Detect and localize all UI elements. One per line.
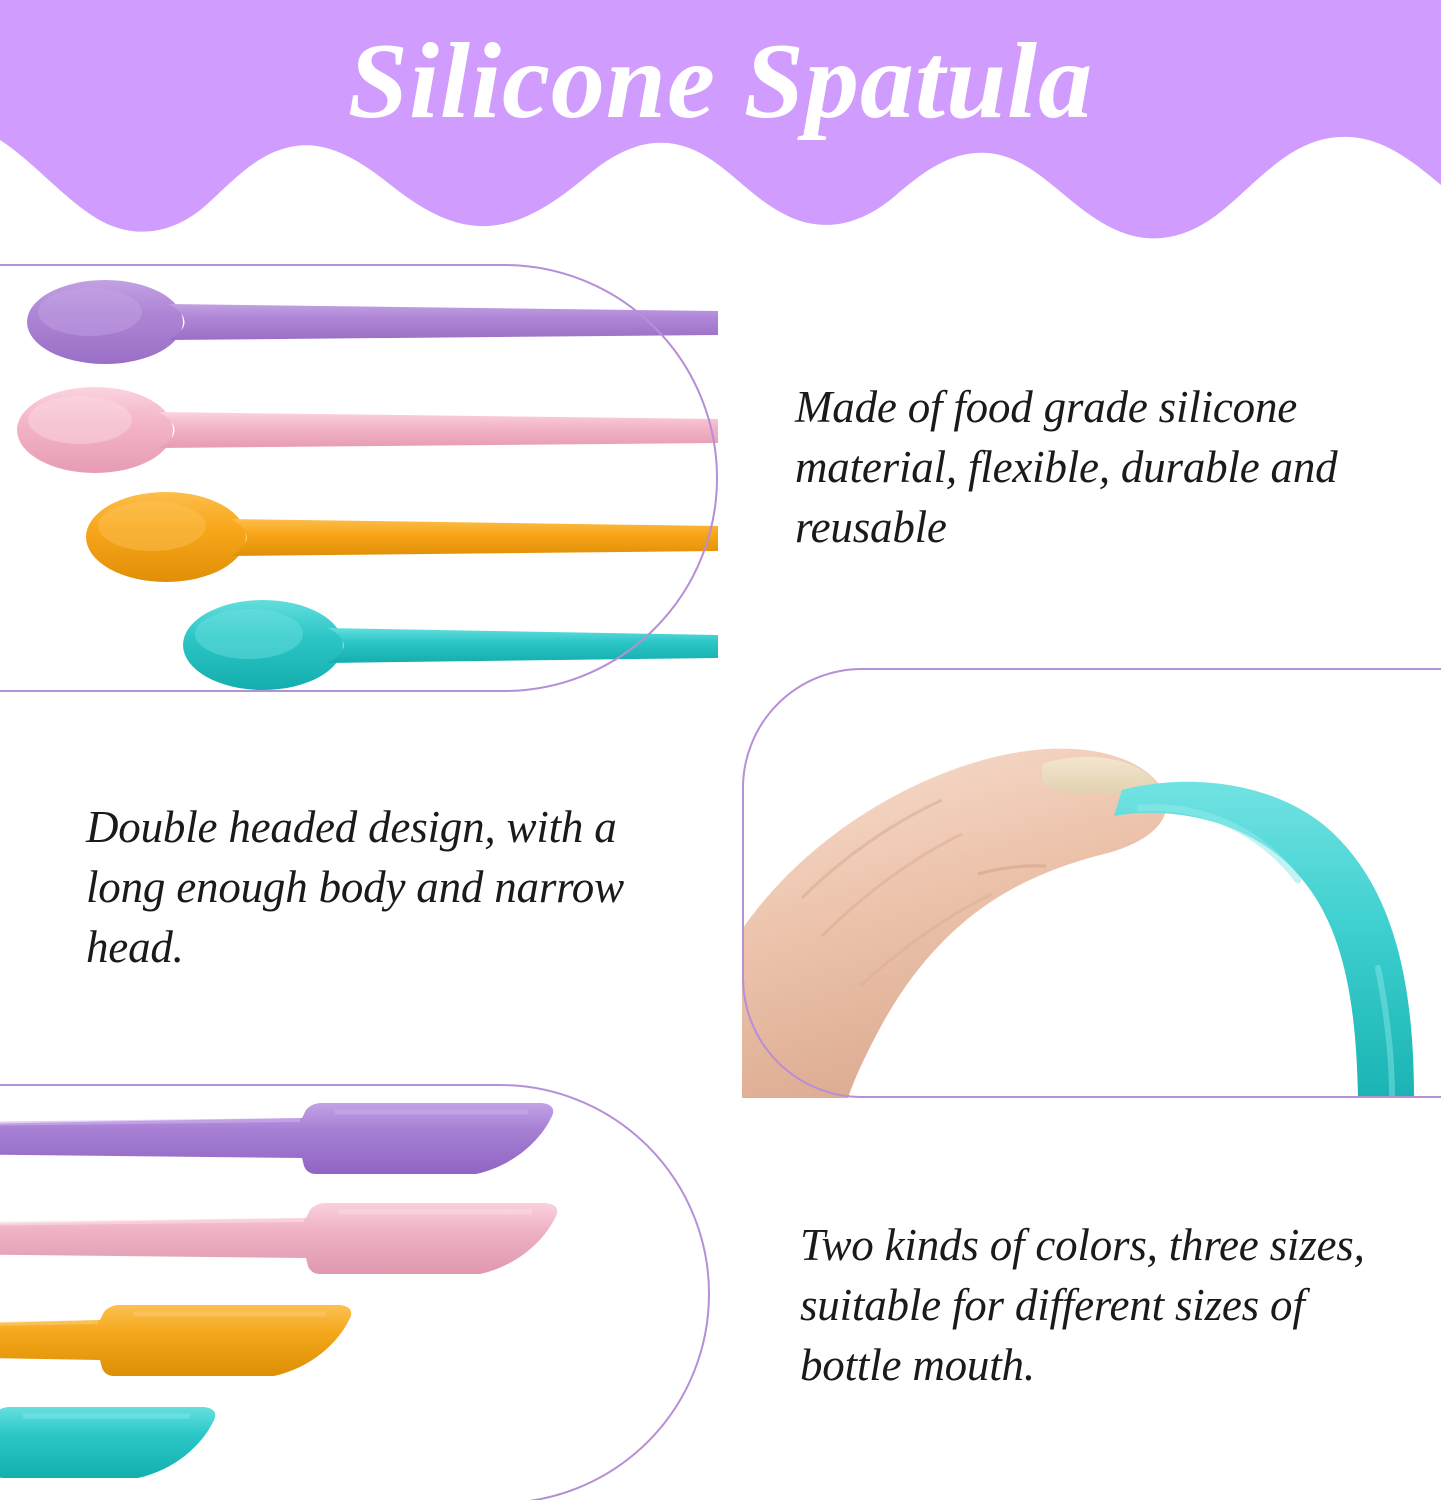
spoon-teal	[183, 600, 718, 690]
scraper-spatula-illustration	[0, 1084, 710, 1500]
feature-text-design: Double headed design, with a long enough…	[86, 798, 686, 978]
scraper-pink	[0, 1203, 557, 1274]
thumb-shape	[742, 749, 1166, 1098]
scraper-orange	[0, 1305, 351, 1376]
panel-spoon-spatulas	[0, 264, 718, 692]
scraper-purple	[0, 1103, 553, 1174]
panel-flexibility-demo	[742, 668, 1441, 1098]
bent-teal-spatula	[1114, 782, 1414, 1098]
spoon-spatula-illustration	[0, 264, 718, 692]
page-title: Silicone Spatula	[0, 24, 1441, 141]
panel-scraper-spatulas	[0, 1084, 710, 1500]
feature-text-sizes: Two kinds of colors, three sizes, suitab…	[800, 1216, 1380, 1396]
spoon-purple	[27, 280, 718, 364]
scraper-teal	[0, 1407, 215, 1478]
spoon-pink	[17, 387, 718, 473]
finger-bending-spatula-illustration	[742, 668, 1441, 1098]
product-infographic: Silicone Spatula	[0, 0, 1441, 1500]
feature-text-material: Made of food grade silicone material, fl…	[795, 378, 1395, 558]
header-banner: Silicone Spatula	[0, 0, 1441, 260]
spoon-orange	[86, 492, 718, 582]
